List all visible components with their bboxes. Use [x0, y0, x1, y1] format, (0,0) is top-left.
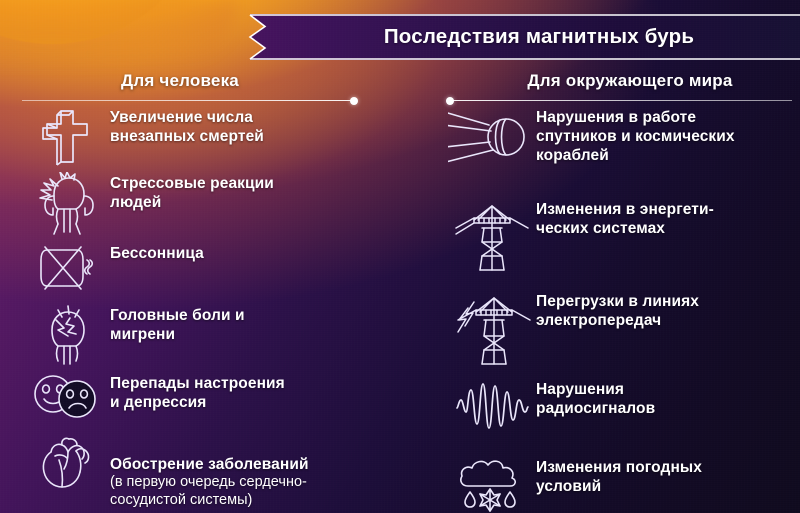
- sun-graphic: [0, 0, 212, 44]
- human-effects-list: Увеличение числа внезапных смертей: [24, 106, 396, 506]
- environment-effects-list: Нарушения в работе спутников и космическ…: [448, 106, 792, 513]
- stressed-head-icon: [24, 172, 110, 238]
- power-tower-spark-icon: [448, 290, 536, 372]
- power-tower-icon: [448, 198, 536, 278]
- header-endpoint-dot-icon: [350, 97, 358, 105]
- header-rule: [22, 100, 356, 102]
- list-item-label: Обострение заболеваний (в первую очередь…: [110, 434, 309, 513]
- cloud-weather-icon: [448, 456, 536, 513]
- list-item: Головные боли и мигрени: [24, 304, 396, 372]
- header-rule: [448, 100, 792, 102]
- list-item: Изменения погодных условий: [448, 456, 792, 513]
- list-item-label: Увеличение числа внезапных смертей: [110, 106, 264, 146]
- list-item: Изменения в энергети- ческих системах: [448, 198, 792, 290]
- list-item: Увеличение числа внезапных смертей: [24, 106, 396, 172]
- list-item-label: Головные боли и мигрени: [110, 304, 245, 344]
- list-item: Обострение заболеваний (в первую очередь…: [24, 434, 396, 506]
- list-item: Нарушения радиосигналов: [448, 378, 792, 456]
- heart-icon: [24, 434, 110, 492]
- list-item: Стрессовые реакции людей: [24, 172, 396, 242]
- list-item-label: Изменения в энергети- ческих системах: [536, 198, 714, 238]
- list-item-label: Перепады настроения и депрессия: [110, 372, 285, 412]
- satellite-icon: [448, 106, 536, 168]
- column-header-environment-label: Для окружающего мира: [448, 68, 792, 94]
- headache-head-icon: [24, 304, 110, 366]
- list-item-title: Обострение заболеваний: [110, 456, 309, 473]
- list-item: Перегрузки в линиях электропередач: [448, 290, 792, 378]
- mood-faces-icon: [24, 372, 110, 420]
- list-item-label: Изменения погодных условий: [536, 456, 702, 496]
- cross-grave-icon: [24, 106, 110, 166]
- poster-title: Последствия магнитных бурь: [288, 14, 790, 60]
- title-ribbon: Последствия магнитных бурь: [232, 14, 800, 60]
- header-endpoint-dot-icon: [446, 97, 454, 105]
- list-item-label: Бессонница: [110, 242, 204, 263]
- list-item: Перепады настроения и депрессия: [24, 372, 396, 434]
- insomnia-bed-icon: [24, 242, 110, 294]
- list-item: Бессонница: [24, 242, 396, 304]
- list-item-label: Нарушения в работе спутников и космическ…: [536, 106, 735, 166]
- list-item-label: Нарушения радиосигналов: [536, 378, 655, 418]
- list-item: Нарушения в работе спутников и космическ…: [448, 106, 792, 198]
- column-header-environment: Для окружающего мира: [448, 68, 792, 106]
- infographic-poster: Последствия магнитных бурь Для человека …: [0, 0, 800, 513]
- list-item-label: Перегрузки в линиях электропередач: [536, 290, 699, 330]
- column-header-human: Для человека: [22, 68, 356, 106]
- column-header-human-label: Для человека: [22, 68, 356, 94]
- list-item-label: Стрессовые реакции людей: [110, 172, 274, 212]
- list-item-subtitle: (в первую очередь сердечно- сосудистой с…: [110, 474, 309, 509]
- radio-wave-icon: [448, 378, 536, 434]
